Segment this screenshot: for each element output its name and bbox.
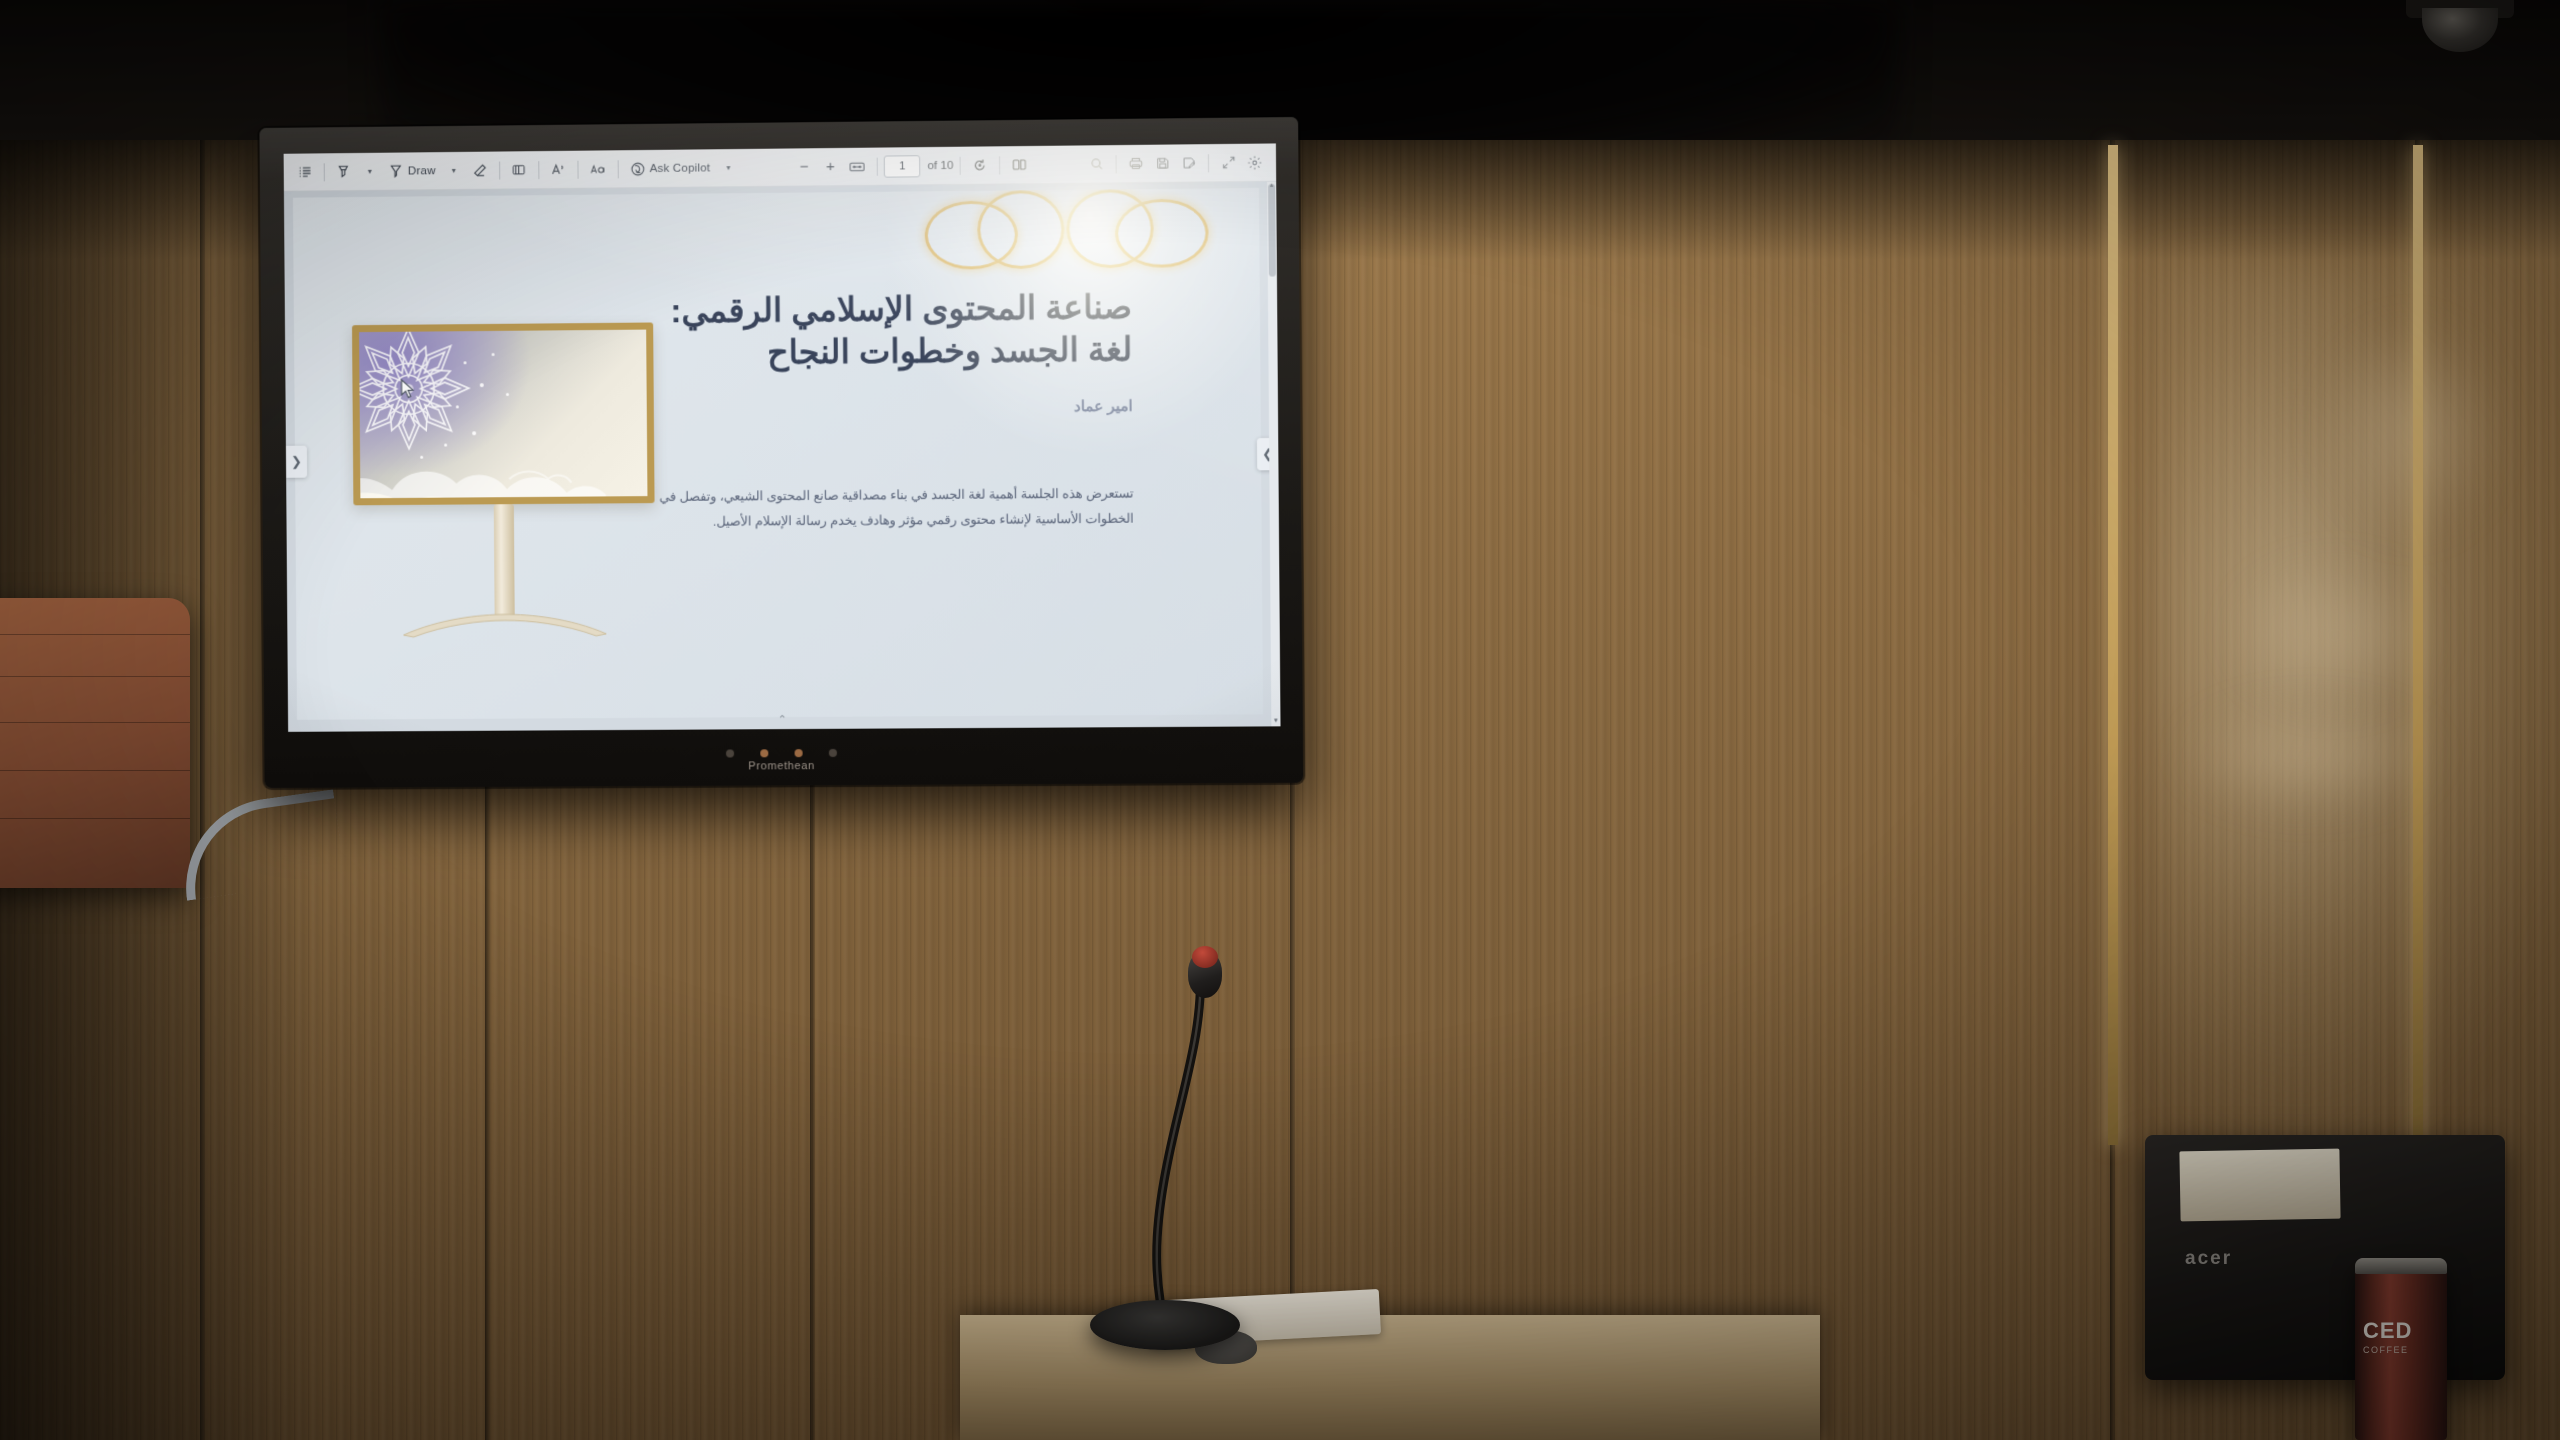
promethean-display: ▾ Draw ▾ <box>259 117 1303 788</box>
beverage-can-top <box>2355 1258 2447 1274</box>
page-title: صناعة المحتوى الإسلامي الرقمي: لغة الجسد… <box>657 286 1133 375</box>
monitor-illustration <box>352 322 656 655</box>
scroll-down-arrow[interactable]: ▼ <box>1271 717 1280 726</box>
toolbar-separator <box>999 156 1000 174</box>
office-chair <box>0 598 190 888</box>
display-screen[interactable]: ▾ Draw ▾ <box>284 143 1281 731</box>
mouse-cursor-icon <box>401 379 417 401</box>
monitor-stand-base <box>399 612 610 639</box>
pen-icon <box>388 163 404 179</box>
microphone-base <box>1090 1300 1240 1350</box>
page-number-input[interactable]: 1 <box>884 155 921 177</box>
zoom-out-button[interactable]: − <box>791 154 817 180</box>
rotate-icon[interactable] <box>966 152 993 178</box>
slide-body-text: تستعرض هذه الجلسة أهمية لغة الجسد في بنا… <box>658 481 1133 534</box>
draw-label: Draw <box>408 165 436 177</box>
dual-page-icon[interactable] <box>1006 152 1034 178</box>
monitor-stand-neck <box>494 504 515 620</box>
eraser-icon[interactable] <box>467 157 493 183</box>
draw-chevron-down-icon[interactable]: ▾ <box>441 157 467 183</box>
podium-desk <box>960 1315 1820 1440</box>
scrollbar-thumb[interactable] <box>1268 184 1276 277</box>
gold-rings-decoration <box>914 188 1219 298</box>
slide-page-1[interactable]: صناعة المحتوى الإسلامي الرقمي: لغة الجسد… <box>293 188 1263 720</box>
copilot-icon <box>629 161 645 177</box>
ask-copilot-button[interactable]: Ask Copilot <box>624 155 715 182</box>
page-layout-icon[interactable] <box>506 157 532 183</box>
toolbar-separator <box>959 156 960 174</box>
microphone-windscreen <box>1192 946 1218 968</box>
security-camera-icon <box>2400 0 2520 52</box>
read-aloud-icon[interactable] <box>545 156 571 182</box>
collapse-toolbar-button[interactable]: ⌃ <box>765 711 799 727</box>
toolbar-separator <box>538 161 539 179</box>
immersive-reader-icon[interactable] <box>584 156 611 182</box>
print-icon[interactable] <box>1123 150 1150 176</box>
toolbar-separator <box>877 157 878 175</box>
ask-copilot-label: Ask Copilot <box>650 162 711 175</box>
slide-author: امير عماد <box>658 397 1133 419</box>
save-icon[interactable] <box>1149 150 1176 176</box>
save-as-icon[interactable] <box>1175 150 1202 176</box>
meeting-room-photo: ▾ Draw ▾ <box>0 0 2560 1440</box>
copilot-chevron-down-icon[interactable]: ▾ <box>715 155 741 181</box>
slide-title-block: صناعة المحتوى الإسلامي الرقمي: لغة الجسد… <box>657 286 1133 419</box>
toolbar-separator <box>577 160 578 178</box>
beverage-can-label: CED <box>2363 1318 2412 1344</box>
page-total-label: of 10 <box>927 159 953 171</box>
list-view-icon[interactable] <box>292 159 318 185</box>
toolbar-separator <box>499 161 500 179</box>
toolbar-separator <box>1116 155 1117 173</box>
beverage-can-sublabel: COFFEE <box>2363 1345 2409 1355</box>
display-status-leds <box>726 749 837 758</box>
fullscreen-icon[interactable] <box>1215 149 1242 175</box>
microphone-gooseneck <box>1130 960 1280 1310</box>
zoom-in-button[interactable]: + <box>817 153 843 179</box>
clouds-decoration <box>352 424 655 506</box>
gold-trim <box>2413 145 2423 1145</box>
wall-highlight <box>2230 560 2440 710</box>
highlighter-icon[interactable] <box>331 159 357 185</box>
wall-highlight <box>2180 700 2440 810</box>
nav-prev-button[interactable]: ❯ <box>286 446 307 478</box>
wall-highlight <box>2320 320 2500 540</box>
monitor-artwork <box>359 330 647 499</box>
gear-icon[interactable] <box>1241 149 1268 175</box>
laptop-sticker <box>2179 1149 2340 1222</box>
toolbar-separator <box>324 163 325 181</box>
monitor-frame <box>352 322 655 505</box>
document-canvas[interactable]: صناعة المحتوى الإسلامي الرقمي: لغة الجسد… <box>284 182 1281 732</box>
toolbar-separator <box>617 160 618 178</box>
scroll-up-arrow[interactable]: ▲ <box>1267 182 1276 191</box>
display-brand-label: Promethean <box>748 760 815 772</box>
highlighter-chevron-down-icon[interactable]: ▾ <box>357 158 383 184</box>
toolbar-separator <box>1208 154 1209 172</box>
gold-trim <box>2108 145 2118 1145</box>
search-icon[interactable] <box>1083 151 1110 177</box>
fit-page-icon[interactable] <box>844 153 871 179</box>
laptop-brand-label: acer <box>2185 1248 2232 1270</box>
draw-button[interactable]: Draw <box>383 158 441 185</box>
